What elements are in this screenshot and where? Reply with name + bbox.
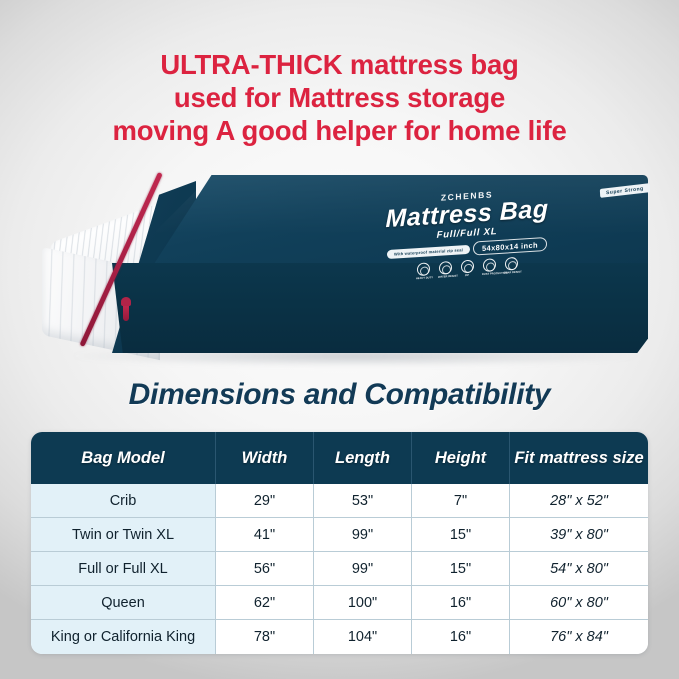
cell-model: Crib: [31, 484, 216, 518]
cell-width: 56": [216, 552, 314, 586]
table-row: Full or Full XL56"99"15"54" x 80": [31, 552, 648, 586]
cell-fit: 39" x 80": [510, 518, 648, 552]
cell-fit: 60" x 80": [510, 586, 648, 620]
section-heading: Dimensions and Compatibility: [0, 378, 679, 412]
feature-droplet-icon: WATER RESIST: [438, 261, 452, 279]
tear-icon: [505, 257, 518, 271]
zipper-pull-icon: [123, 303, 129, 321]
cell-width: 29": [216, 484, 314, 518]
feature-tear-icon: TEAR RESIST: [504, 257, 518, 275]
feature-seal-icon: ZIP: [460, 260, 474, 278]
cell-length: 104": [314, 620, 412, 654]
table-header-row: Bag Model Width Length Height Fit mattre…: [31, 432, 648, 484]
column-header-fit-size: Fit mattress size: [510, 432, 648, 484]
seal-icon: [461, 260, 474, 274]
cell-fit: 54" x 80": [510, 552, 648, 586]
cell-model: Full or Full XL: [31, 552, 216, 586]
table-row: Crib29"53"7"28" x 52": [31, 484, 648, 518]
cell-height: 15": [412, 552, 510, 586]
cell-length: 99": [314, 552, 412, 586]
feature-shield-icon: HEAVY DUTY: [416, 262, 430, 280]
cell-length: 53": [314, 484, 412, 518]
headline: ULTRA-THICK mattress bag used for Mattre…: [0, 48, 679, 147]
dust-icon: [483, 258, 496, 272]
bag-spec-pill: With waterproof material zip seal: [387, 244, 470, 258]
table-row: Queen62"100"16"60" x 80": [31, 586, 648, 620]
cell-width: 78": [216, 620, 314, 654]
dimensions-table: Bag Model Width Length Height Fit mattre…: [31, 432, 648, 654]
cell-height: 16": [412, 586, 510, 620]
cell-height: 15": [412, 518, 510, 552]
cell-model: King or California King: [31, 620, 216, 654]
table-body: Crib29"53"7"28" x 52"Twin or Twin XL41"9…: [31, 484, 648, 654]
feature-dust-icon: DUST PROTECTION: [482, 258, 496, 276]
cell-height: 7": [412, 484, 510, 518]
mattress-bag: Super Strong ZCHENBS Mattress Bag Full/F…: [88, 175, 648, 353]
table-row: King or California King78"104"16"76" x 8…: [31, 620, 648, 654]
zipper: [114, 177, 206, 353]
zipper-track: [79, 172, 162, 347]
column-header-length: Length: [314, 432, 412, 484]
bag-size-label: 54x80x14 inch: [473, 237, 547, 256]
headline-line-1: ULTRA-THICK mattress bag: [0, 48, 679, 81]
product-photo: Super Strong ZCHENBS Mattress Bag Full/F…: [0, 175, 679, 360]
column-header-height: Height: [412, 432, 510, 484]
cell-fit: 76" x 84": [510, 620, 648, 654]
shield-icon: [417, 262, 430, 276]
cell-fit: 28" x 52": [510, 484, 648, 518]
column-header-bag-model: Bag Model: [31, 432, 216, 484]
headline-line-3: moving A good helper for home life: [0, 114, 679, 147]
cell-height: 16": [412, 620, 510, 654]
cell-width: 41": [216, 518, 314, 552]
table-row: Twin or Twin XL41"99"15"39" x 80": [31, 518, 648, 552]
cell-model: Queen: [31, 586, 216, 620]
column-header-width: Width: [216, 432, 314, 484]
cell-length: 100": [314, 586, 412, 620]
droplet-icon: [439, 261, 452, 275]
cell-model: Twin or Twin XL: [31, 518, 216, 552]
cell-length: 99": [314, 518, 412, 552]
cell-width: 62": [216, 586, 314, 620]
headline-line-2: used for Mattress storage: [0, 81, 679, 114]
